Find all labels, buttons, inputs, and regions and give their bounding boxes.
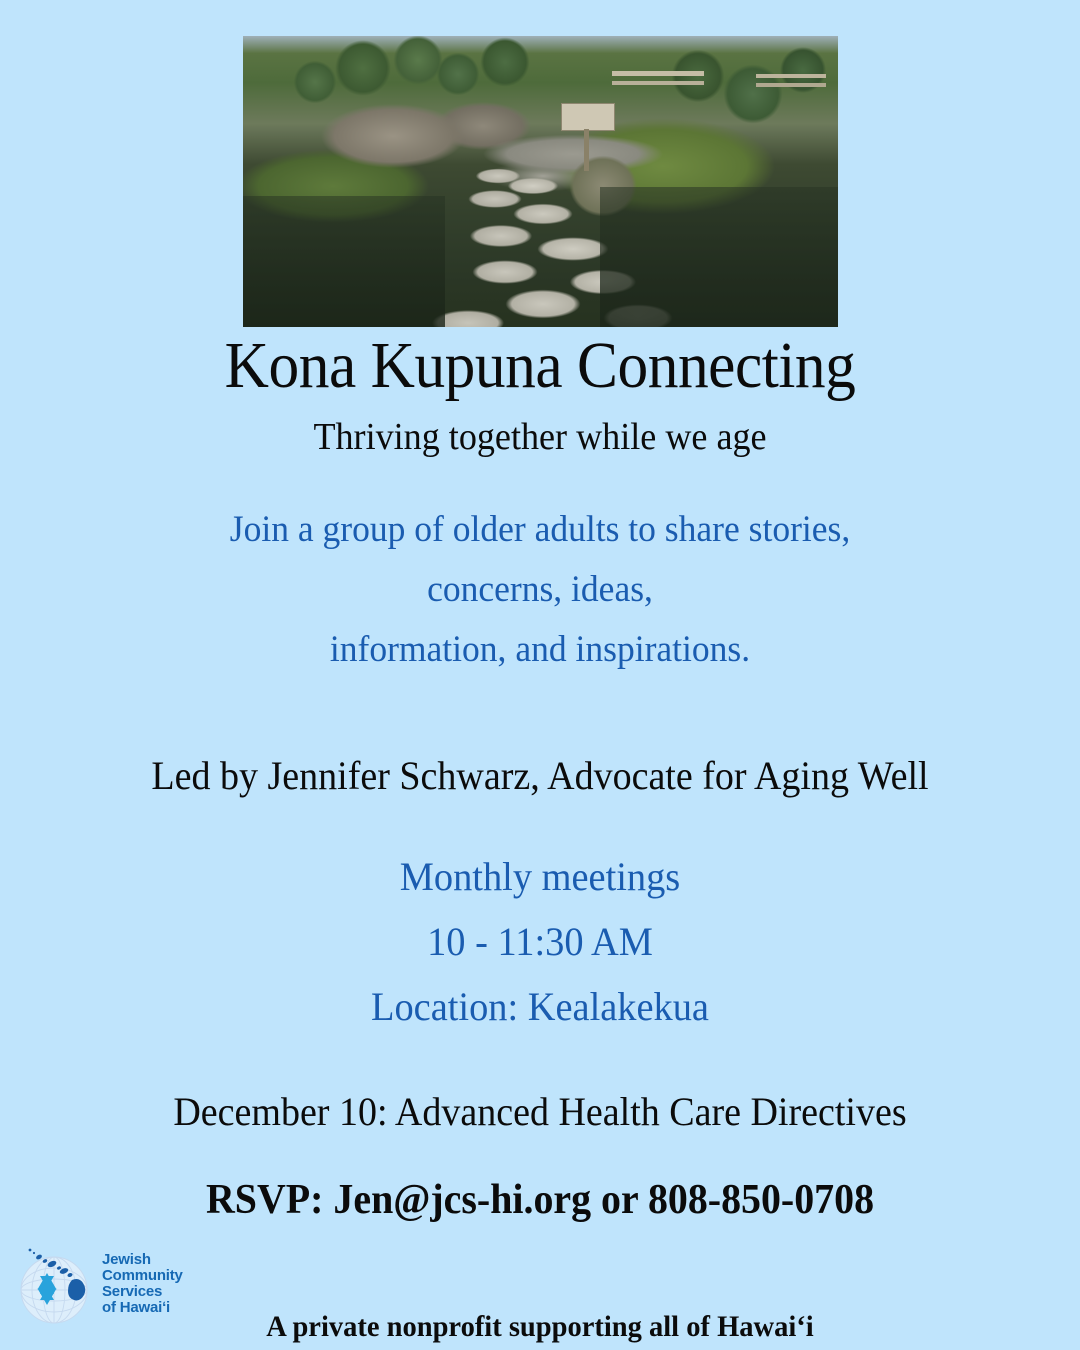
- rsvp-line[interactable]: RSVP: Jen@jcs-hi.org or 808-850-0708: [27, 1176, 1053, 1224]
- flyer-canvas: Kona Kupuna Connecting Thriving together…: [0, 0, 1080, 1350]
- garden-photo: [243, 36, 838, 327]
- garden-sign: [561, 103, 615, 131]
- footer-tagline: A private nonprofit supporting all of Ha…: [27, 1310, 1053, 1344]
- meeting-frequency: Monthly meetings: [22, 845, 1059, 910]
- logo-line-3: Services: [102, 1284, 183, 1300]
- jcs-logo-text: Jewish Community Services of Hawaiʻi: [102, 1252, 183, 1316]
- logo-line-2: Community: [102, 1268, 183, 1284]
- logo-line-1: Jewish: [102, 1252, 183, 1268]
- pond-water-right: [600, 187, 838, 327]
- intro-line-2: concerns, ideas,: [79, 560, 1001, 620]
- intro-line-3: information, and inspirations.: [79, 620, 1001, 680]
- wooden-fence: [756, 74, 826, 96]
- event-topic: December 10: Advanced Health Care Direct…: [27, 1088, 1053, 1135]
- facilitator-line: Led by Jennifer Schwarz, Advocate for Ag…: [27, 752, 1053, 799]
- intro-line-1: Join a group of older adults to share st…: [79, 500, 1001, 560]
- pond-water-left: [243, 196, 445, 327]
- meeting-time: 10 - 11:30 AM: [22, 910, 1059, 975]
- meeting-details: Monthly meetings 10 - 11:30 AM Location:…: [22, 845, 1059, 1039]
- page-title: Kona Kupuna Connecting: [38, 332, 1042, 399]
- page-subtitle: Thriving together while we age: [27, 415, 1053, 459]
- intro-paragraph: Join a group of older adults to share st…: [79, 500, 1001, 680]
- meeting-location: Location: Kealakekua: [22, 975, 1059, 1040]
- wooden-bridge: [612, 71, 704, 95]
